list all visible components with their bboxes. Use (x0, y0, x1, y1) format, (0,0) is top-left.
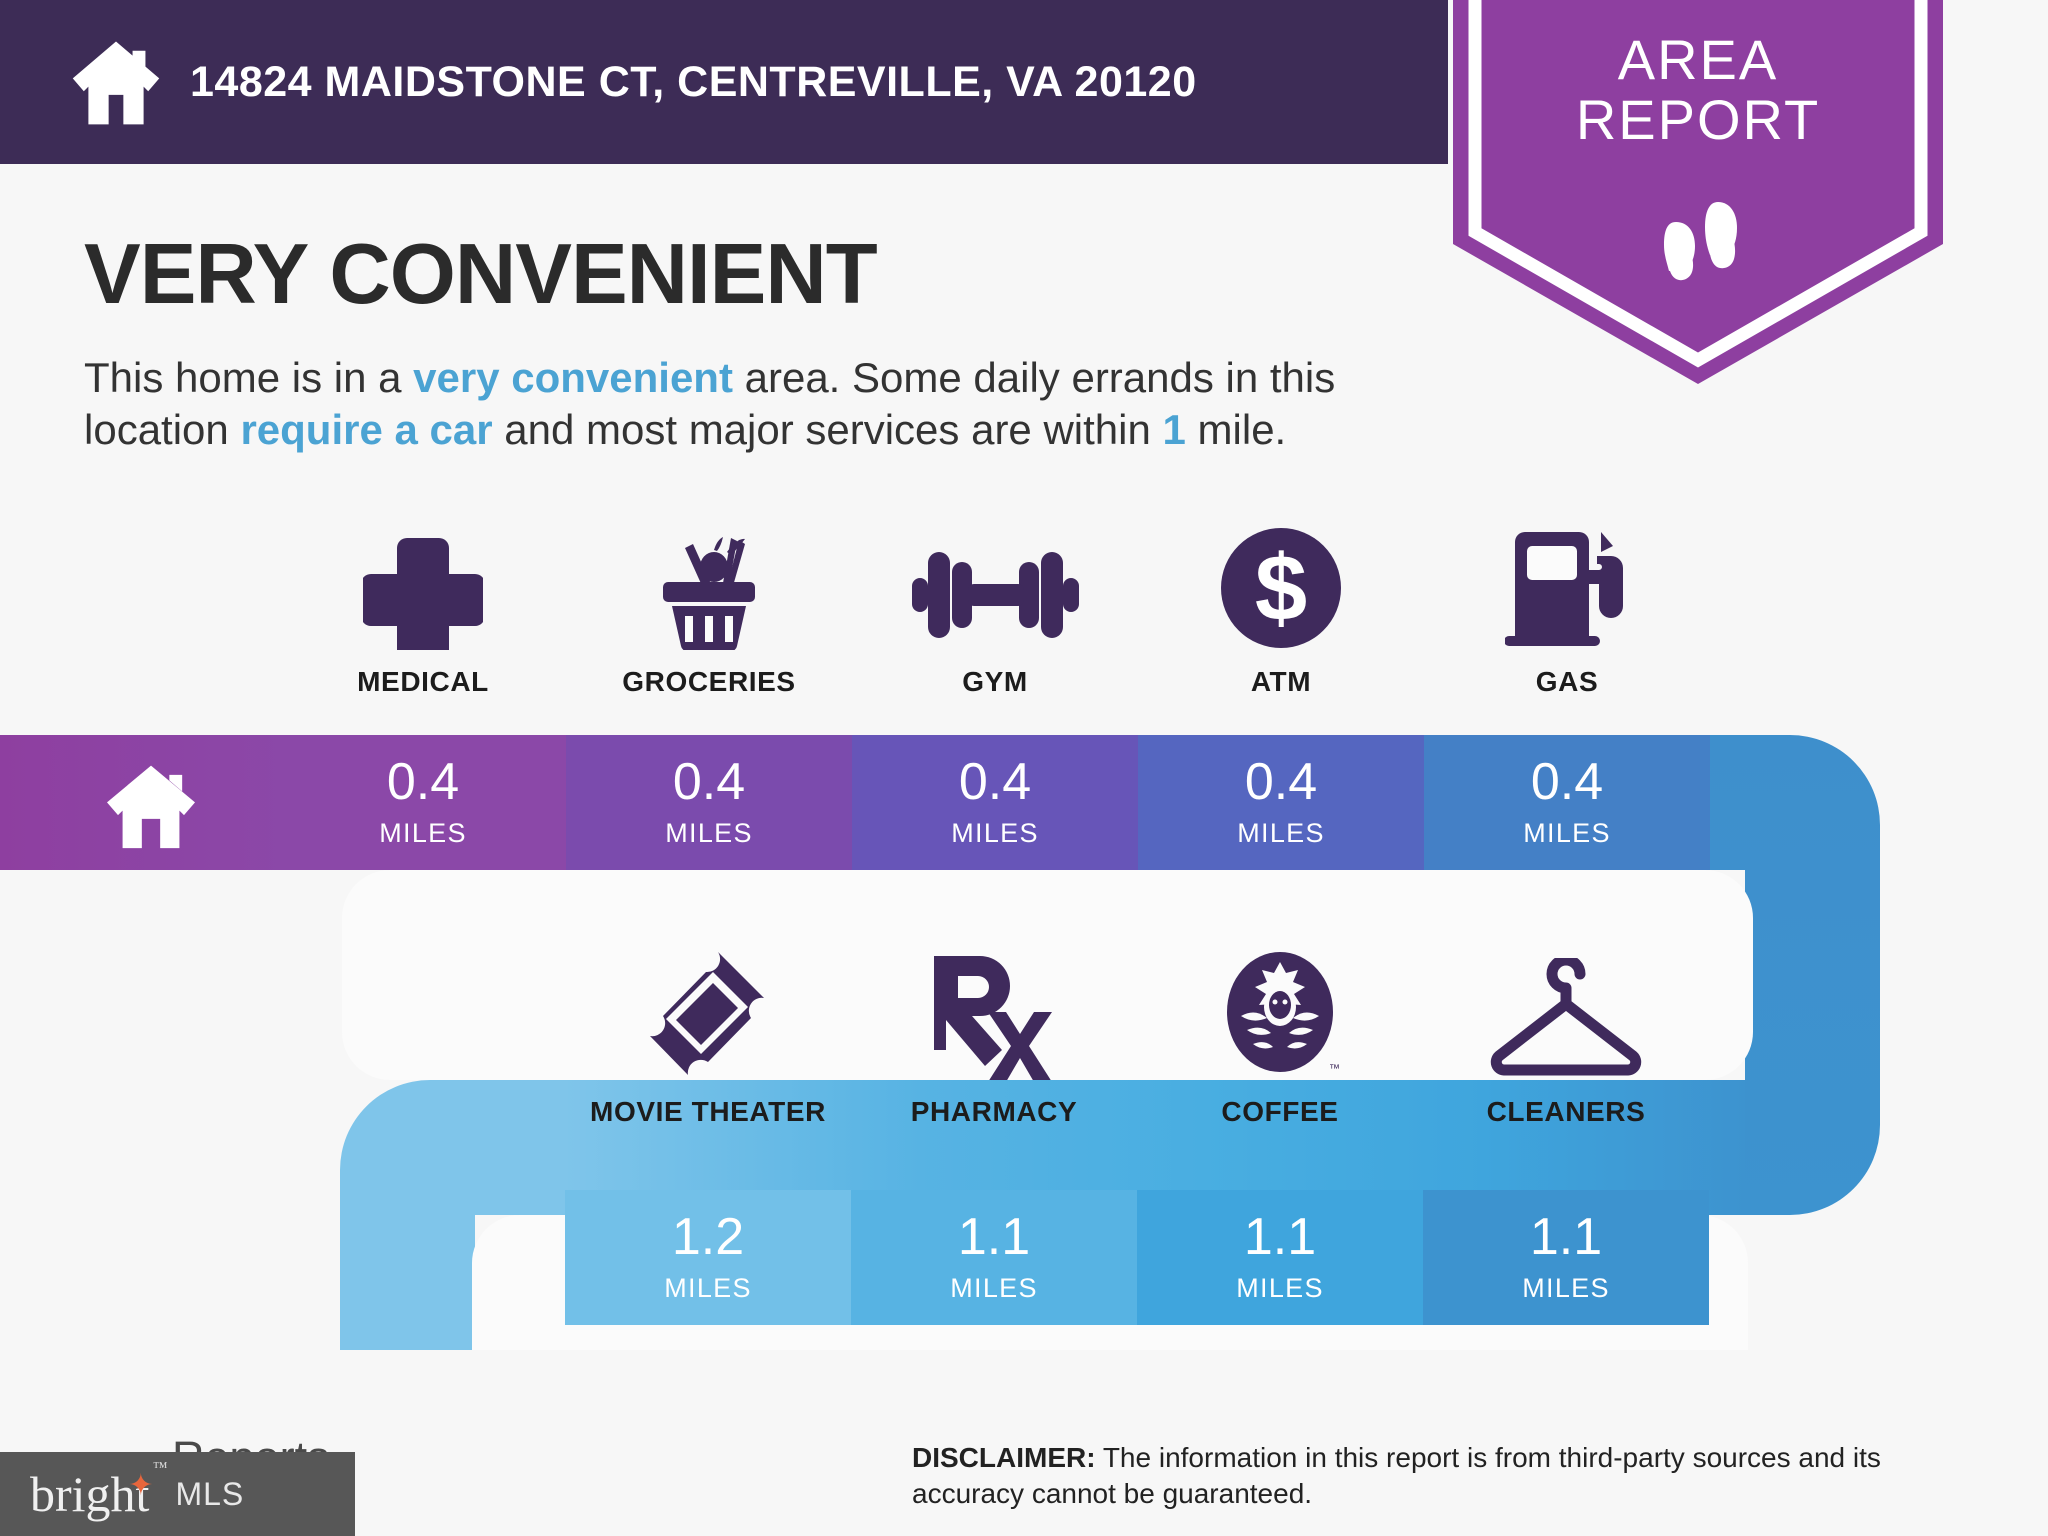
badge-title: AREA REPORT (1453, 30, 1943, 150)
badge-line-1: AREA (1453, 30, 1943, 90)
distance-value: 1.1 (1244, 1211, 1316, 1263)
distance-unit: MILES (1237, 818, 1325, 849)
distance-value: 1.2 (672, 1211, 744, 1263)
amenity-label: MOVIE THEATER (590, 1096, 826, 1128)
amenity-label: GAS (1536, 666, 1598, 698)
dollar-circle-icon: $ (1219, 520, 1343, 650)
summary-part-3: require a car (240, 406, 492, 453)
amenity-icons-row-1: MEDICAL (280, 520, 1710, 698)
distance-cell: 1.2 MILES (565, 1190, 851, 1325)
amenity-atm[interactable]: $ ATM (1138, 520, 1424, 698)
distance-value: 0.4 (1245, 756, 1317, 808)
header-bar: 14824 MAIDSTONE CT, CENTREVILLE, VA 2012… (0, 0, 1448, 164)
grocery-basket-icon (647, 520, 772, 650)
distance-unit: MILES (1523, 818, 1611, 849)
gas-pump-icon (1505, 520, 1630, 650)
summary-part-0: This home is in a (84, 354, 413, 401)
disclaimer-label: DISCLAIMER: (912, 1442, 1096, 1473)
svg-text:$: $ (1255, 535, 1307, 640)
footprints-icon (1638, 182, 1758, 302)
summary-part-5: 1 (1163, 406, 1186, 453)
amenity-label: COFFEE (1221, 1096, 1338, 1128)
distance-unit: MILES (664, 1273, 752, 1304)
disclaimer: DISCLAIMER: The information in this repo… (912, 1440, 1982, 1513)
clothes-hanger-icon (1489, 950, 1644, 1080)
rx-prescription-icon (934, 950, 1054, 1080)
distance-cell: 1.1 MILES (1137, 1190, 1423, 1325)
page-title: VERY CONVENIENT (84, 226, 877, 324)
summary-paragraph: This home is in a very convenient area. … (84, 352, 1454, 456)
home-icon (70, 36, 162, 128)
distance-value: 0.4 (387, 756, 459, 808)
amenity-label: CLEANERS (1487, 1096, 1646, 1128)
distance-unit: MILES (1522, 1273, 1610, 1304)
bright-mls-logo: bright ✦ ™ MLS (0, 1452, 355, 1536)
area-report-badge: AREA REPORT (1453, 0, 1943, 384)
distance-unit: MILES (950, 1273, 1038, 1304)
logo-trademark: ™ (153, 1461, 168, 1476)
amenity-label: GROCERIES (622, 666, 795, 698)
summary-part-4: and most major services are within (493, 406, 1163, 453)
distance-row-2: 1.2 MILES 1.1 MILES 1.1 MILES 1.1 MILES (565, 1190, 1709, 1325)
distance-cell: 0.4 MILES (566, 735, 852, 870)
distance-cell: 0.4 MILES (1424, 735, 1710, 870)
amenity-label: MEDICAL (357, 666, 489, 698)
amenity-gym[interactable]: GYM (852, 520, 1138, 698)
amenity-label: GYM (962, 666, 1028, 698)
starbucks-coffee-icon: ™ (1219, 950, 1341, 1080)
badge-line-2: REPORT (1453, 90, 1943, 150)
distance-cell: 1.1 MILES (851, 1190, 1137, 1325)
distance-unit: MILES (1236, 1273, 1324, 1304)
distance-value: 0.4 (959, 756, 1031, 808)
amenity-medical[interactable]: MEDICAL (280, 520, 566, 698)
amenity-label: ATM (1251, 666, 1311, 698)
dumbbell-icon (908, 520, 1083, 650)
amenity-icons-row-2: MOVIE THEATER PHARMACY (565, 950, 1709, 1128)
distance-value: 1.1 (958, 1211, 1030, 1263)
distance-cell: 0.4 MILES (280, 735, 566, 870)
medical-cross-icon (363, 520, 483, 650)
amenity-movie-theater[interactable]: MOVIE THEATER (565, 950, 851, 1128)
logo-wordmark: bright ✦ ™ (30, 1469, 149, 1519)
distance-value: 0.4 (673, 756, 745, 808)
distance-unit: MILES (665, 818, 753, 849)
distance-unit: MILES (379, 818, 467, 849)
summary-part-1: very convenient (413, 354, 733, 401)
logo-mls-text: MLS (175, 1476, 244, 1513)
distance-value: 1.1 (1530, 1211, 1602, 1263)
distance-value: 0.4 (1531, 756, 1603, 808)
property-address: 14824 MAIDSTONE CT, CENTREVILLE, VA 2012… (190, 58, 1197, 107)
logo-star-icon: ✦ (128, 1471, 153, 1501)
amenity-groceries[interactable]: GROCERIES (566, 520, 852, 698)
distance-cell: 0.4 MILES (1138, 735, 1424, 870)
distance-row-1: 0.4 MILES 0.4 MILES 0.4 MILES 0.4 MILES … (280, 735, 1710, 870)
amenity-label: PHARMACY (911, 1096, 1078, 1128)
amenity-coffee[interactable]: ™ COFFEE (1137, 950, 1423, 1128)
distance-cell: 0.4 MILES (852, 735, 1138, 870)
amenity-gas[interactable]: GAS (1424, 520, 1710, 698)
summary-part-6: mile. (1186, 406, 1286, 453)
home-marker-icon (105, 762, 197, 855)
svg-text:™: ™ (1329, 1063, 1340, 1075)
movie-ticket-icon (646, 950, 771, 1080)
amenity-cleaners[interactable]: CLEANERS (1423, 950, 1709, 1128)
distance-cell: 1.1 MILES (1423, 1190, 1709, 1325)
amenity-pharmacy[interactable]: PHARMACY (851, 950, 1137, 1128)
distance-unit: MILES (951, 818, 1039, 849)
